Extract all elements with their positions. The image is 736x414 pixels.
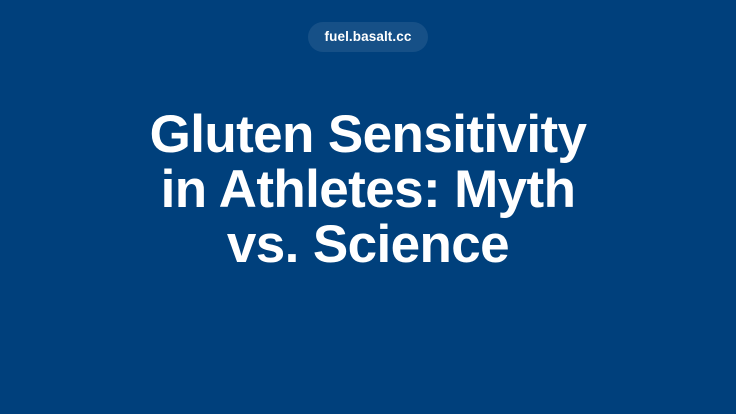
headline-container: Gluten Sensitivity in Athletes: Myth vs.… [0,0,736,414]
social-share-card: fuel.basalt.cc Gluten Sensitivity in Ath… [0,0,736,414]
site-domain-badge[interactable]: fuel.basalt.cc [308,22,429,52]
page-title: Gluten Sensitivity in Athletes: Myth vs.… [88,107,648,272]
site-badge-row: fuel.basalt.cc [0,22,736,52]
page-title-line-2: in Athletes: Myth [88,162,648,217]
page-title-line-3: vs. Science [88,217,648,272]
page-title-line-1: Gluten Sensitivity [88,107,648,162]
